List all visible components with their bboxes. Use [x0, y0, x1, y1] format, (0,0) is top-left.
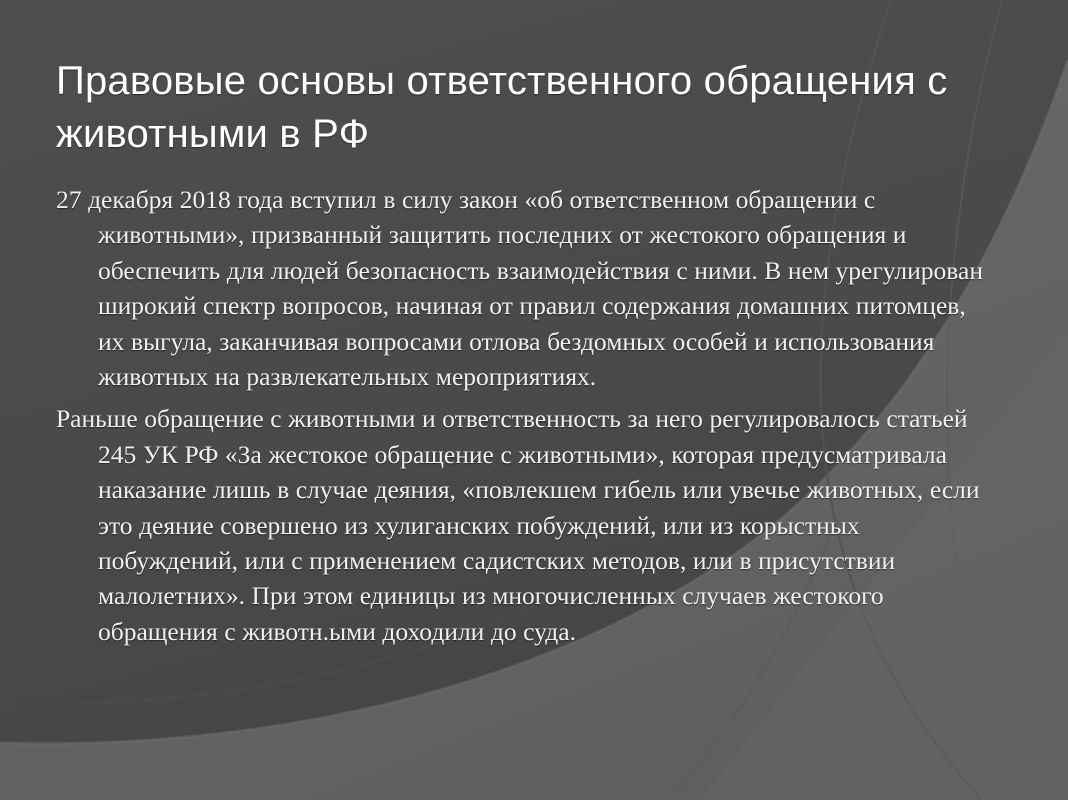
body-paragraph: 27 декабря 2018 года вступил в силу зако…: [56, 182, 986, 394]
slide-body-text: 27 декабря 2018 года вступил в силу зако…: [56, 182, 986, 649]
presentation-slide: Правовые основы ответственного обращения…: [0, 0, 1068, 800]
body-paragraph: Раньше обращение с животными и ответстве…: [56, 401, 986, 649]
slide-title: Правовые основы ответственного обращения…: [56, 55, 1028, 161]
